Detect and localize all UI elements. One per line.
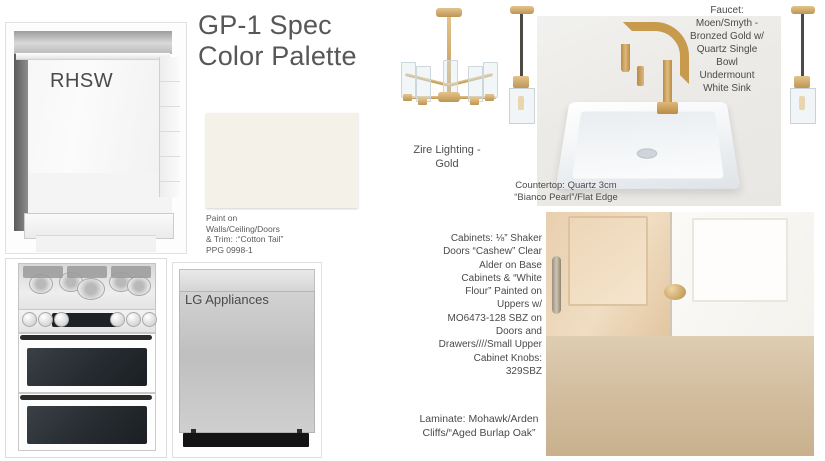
pendant-canopy: [791, 6, 815, 14]
undermount-sink-basin: [556, 102, 741, 189]
chandelier-label: Zire Lighting - Gold: [386, 143, 508, 171]
cooktop: [18, 263, 156, 313]
chandelier-cup: [470, 98, 479, 105]
burner-knob[interactable]: [142, 312, 157, 327]
countertop-label: Countertop: Quartz 3cm “Bianco Pearl”/Fl…: [484, 180, 648, 204]
faucet-label-line2: Moen/Smyth -: [672, 17, 782, 30]
hood-foot: [36, 235, 156, 252]
grate: [67, 266, 107, 278]
dishwasher-kickplate: [183, 433, 309, 447]
cabinets-label-line3: Alder on Base: [398, 259, 542, 272]
dishwasher-label: LG Appliances: [185, 292, 269, 307]
burner: [127, 276, 151, 296]
cabinets-label-line8: Doors and: [398, 325, 542, 338]
floor-plank: [604, 336, 666, 456]
sink-interior: [572, 111, 724, 178]
burner-knob[interactable]: [126, 312, 141, 327]
cabinets-label-line5: Flour” Painted on: [398, 285, 542, 298]
hood-crown-trim: [16, 53, 170, 60]
faucet-base: [657, 102, 678, 114]
floor-plank: [666, 336, 720, 456]
cabinet-knob[interactable]: [664, 284, 686, 300]
cabinets-label-line4: Cabinets & “White: [398, 272, 542, 285]
chandelier-glass-shade: [401, 62, 416, 98]
laminate-label-line2: Cliffs/“Aged Burlap Oak”: [366, 426, 592, 440]
upper-oven-glass: [27, 348, 147, 386]
pendant-stem: [801, 14, 804, 76]
lower-oven-glass: [27, 406, 147, 444]
chandelier-label-line1: Zire Lighting -: [386, 143, 508, 157]
paint-color-swatch: [206, 113, 358, 208]
burner-center: [77, 278, 105, 300]
range-card: [5, 258, 167, 458]
paint-label-line2: Walls/Ceiling/Doors: [206, 224, 356, 235]
grate: [111, 266, 151, 278]
faucet-column: [663, 60, 672, 106]
paint-label-line3: & Trim: :“Cotton Tail”: [206, 234, 356, 245]
floor-plank: [768, 336, 814, 456]
burner-knob[interactable]: [22, 312, 37, 327]
burner-knob[interactable]: [110, 312, 125, 327]
faucet-downspout: [621, 44, 630, 72]
lower-oven-handle[interactable]: [20, 395, 152, 400]
faucet-label-line4: Quartz Single: [672, 43, 782, 56]
faucet-label-line1: Faucet:: [672, 4, 782, 17]
hood-side-column: [159, 57, 180, 197]
faucet-label-line3: Bronzed Gold w/: [672, 30, 782, 43]
floor-plank: [720, 336, 768, 456]
faucet-label-line6: Undermount: [672, 69, 782, 82]
pendant-fitter: [513, 76, 529, 88]
pendant-fitter: [794, 76, 810, 88]
cabinets-label-line9: Drawers////Small Upper: [398, 338, 542, 351]
page-title-line2: Color Palette: [198, 41, 398, 72]
pendant-light-right: [786, 0, 820, 130]
hood-crown-molding: [14, 31, 172, 54]
burner-knob[interactable]: [38, 312, 53, 327]
pendant-stem: [520, 14, 523, 76]
chandelier-glass-shade: [443, 60, 458, 96]
grate: [23, 266, 63, 278]
chandelier-cup: [418, 98, 427, 105]
chandelier-cup: [485, 94, 494, 101]
range-hood-label: RHSW: [50, 70, 113, 93]
faucet-label-line7: White Sink: [672, 82, 782, 95]
faucet-label: Faucet: Moen/Smyth - Bronzed Gold w/ Qua…: [672, 4, 782, 95]
chandelier-label-line2: Gold: [386, 157, 508, 171]
countertop-label-line2: “Bianco Pearl”/Flat Edge: [484, 192, 648, 204]
white-cabinet-door: [672, 212, 814, 340]
pendant-light-left: [505, 0, 539, 130]
sink-drain: [637, 148, 658, 158]
cabinets-label-line10: Cabinet Knobs:: [398, 352, 542, 365]
dishwasher-door: [179, 291, 315, 433]
countertop-label-line1: Countertop: Quartz 3cm: [484, 180, 648, 192]
laminate-label: Laminate: Mohawk/Arden Cliffs/“Aged Burl…: [366, 412, 592, 440]
paint-label-line1: Paint on: [206, 213, 356, 224]
pendant-bulb: [518, 96, 524, 110]
cabinets-label-line6: Uppers w/: [398, 298, 542, 311]
upper-oven-handle[interactable]: [20, 335, 152, 340]
page-title: GP-1 Spec Color Palette: [198, 10, 398, 72]
laminate-label-line1: Laminate: Mohawk/Arden: [366, 412, 592, 426]
cabinets-label-line2: Doors “Cashew” Clear: [398, 245, 542, 258]
pendant-canopy: [510, 6, 534, 14]
burner-knob[interactable]: [54, 312, 69, 327]
lower-oven: [18, 393, 156, 451]
dishwasher-control-strip: [179, 269, 315, 293]
alder-cabinet-door: [546, 212, 670, 340]
chandelier-canopy: [436, 8, 462, 17]
faucet-handle[interactable]: [637, 66, 644, 86]
page-title-line1: GP-1 Spec: [198, 10, 398, 41]
paint-label: Paint on Walls/Ceiling/Doors & Trim: :“C…: [206, 213, 356, 255]
cabinets-label-line1: Cabinets: ⅛” Shaker: [398, 232, 542, 245]
chandelier-glass-shade: [483, 62, 498, 98]
cabinets-label: Cabinets: ⅛” Shaker Doors “Cashew” Clear…: [398, 232, 542, 378]
chandelier-cup: [403, 94, 412, 101]
alder-door-panel: [568, 216, 648, 306]
upper-oven: [18, 333, 156, 393]
range-hood-card: [5, 22, 187, 254]
hood-left-side: [14, 31, 28, 231]
chandelier-glass-shade: [416, 66, 431, 102]
pendant-bulb: [799, 96, 805, 110]
paint-label-line4: PPG 0998-1: [206, 245, 356, 256]
cabinets-label-line11: 329SBZ: [398, 365, 542, 378]
chandelier-glass-shade: [468, 66, 483, 102]
faucet-label-line5: Bowl: [672, 56, 782, 69]
cabinet-pull-handle[interactable]: [552, 256, 561, 314]
white-door-panel: [692, 218, 788, 302]
chandelier-hub: [438, 92, 460, 102]
cabinets-label-line7: MO6473-128 SBZ on: [398, 312, 542, 325]
chandelier-illustration: [388, 4, 508, 144]
cabinet-door-photo: [546, 212, 814, 340]
